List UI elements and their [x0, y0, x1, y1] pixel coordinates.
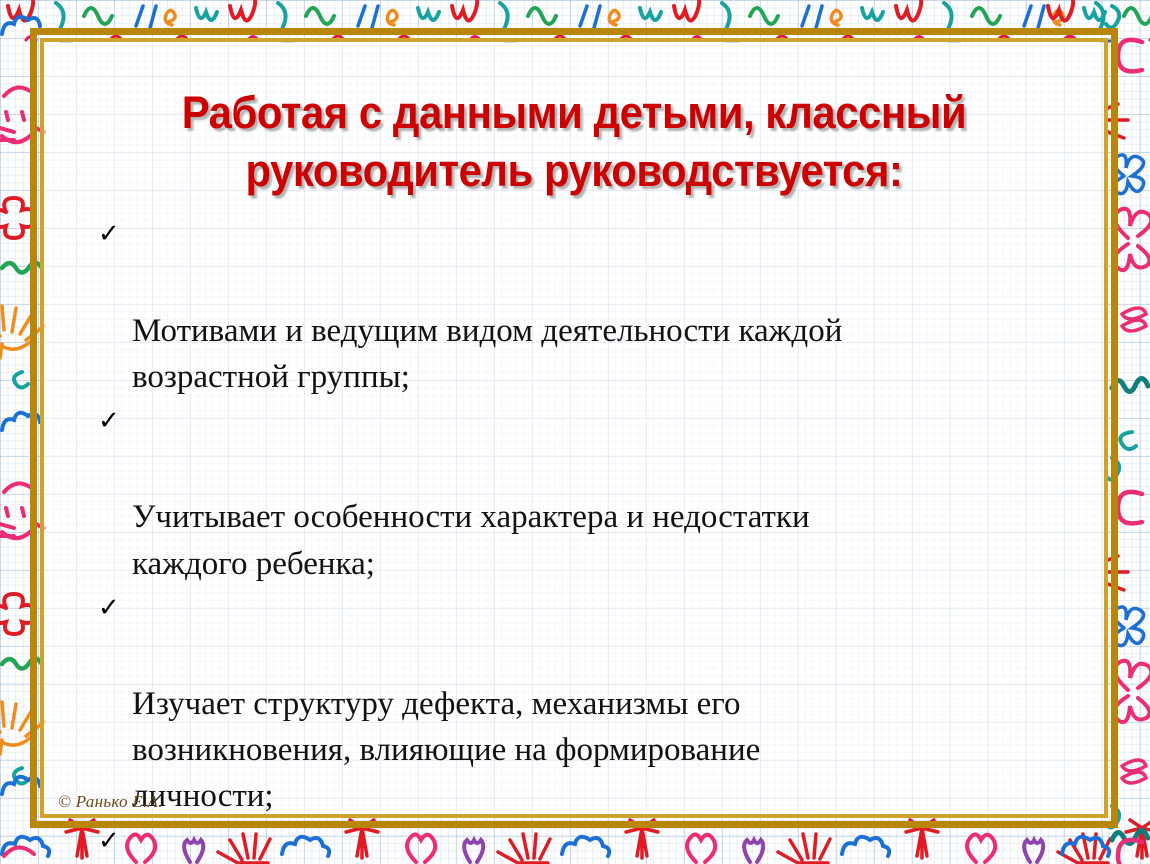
bullet-item: ✓ Постоянно наблюдает, отслеживает динам…	[98, 822, 1076, 864]
slide-title: Работая с данными детьми, классный руков…	[98, 84, 1050, 199]
bullet-list: ✓ Мотивами и ведущим видом деятельности …	[62, 215, 1086, 864]
checkmark-icon: ✓	[98, 821, 120, 861]
presentation-slide: Работая с данными детьми, классный руков…	[0, 0, 1150, 864]
bullet-item: ✓ Изучает структуру дефекта, механизмы е…	[98, 589, 1076, 820]
slide-content: Работая с данными детьми, классный руков…	[44, 42, 1104, 814]
bullet-item: ✓ Учитывает особенности характера и недо…	[98, 402, 1076, 587]
checkmark-icon: ✓	[98, 214, 120, 254]
bullet-item: ✓ Мотивами и ведущим видом деятельности …	[98, 215, 1076, 400]
checkmark-icon: ✓	[98, 588, 120, 628]
bullet-text: Учитывает особенности характера и недост…	[132, 499, 810, 581]
copyright-notice: © Ранько Е.А.	[58, 792, 163, 812]
bullet-text: Мотивами и ведущим видом деятельности ка…	[132, 313, 842, 395]
bullet-text: Изучает структуру дефекта, механизмы его…	[132, 686, 760, 814]
checkmark-icon: ✓	[98, 401, 120, 441]
